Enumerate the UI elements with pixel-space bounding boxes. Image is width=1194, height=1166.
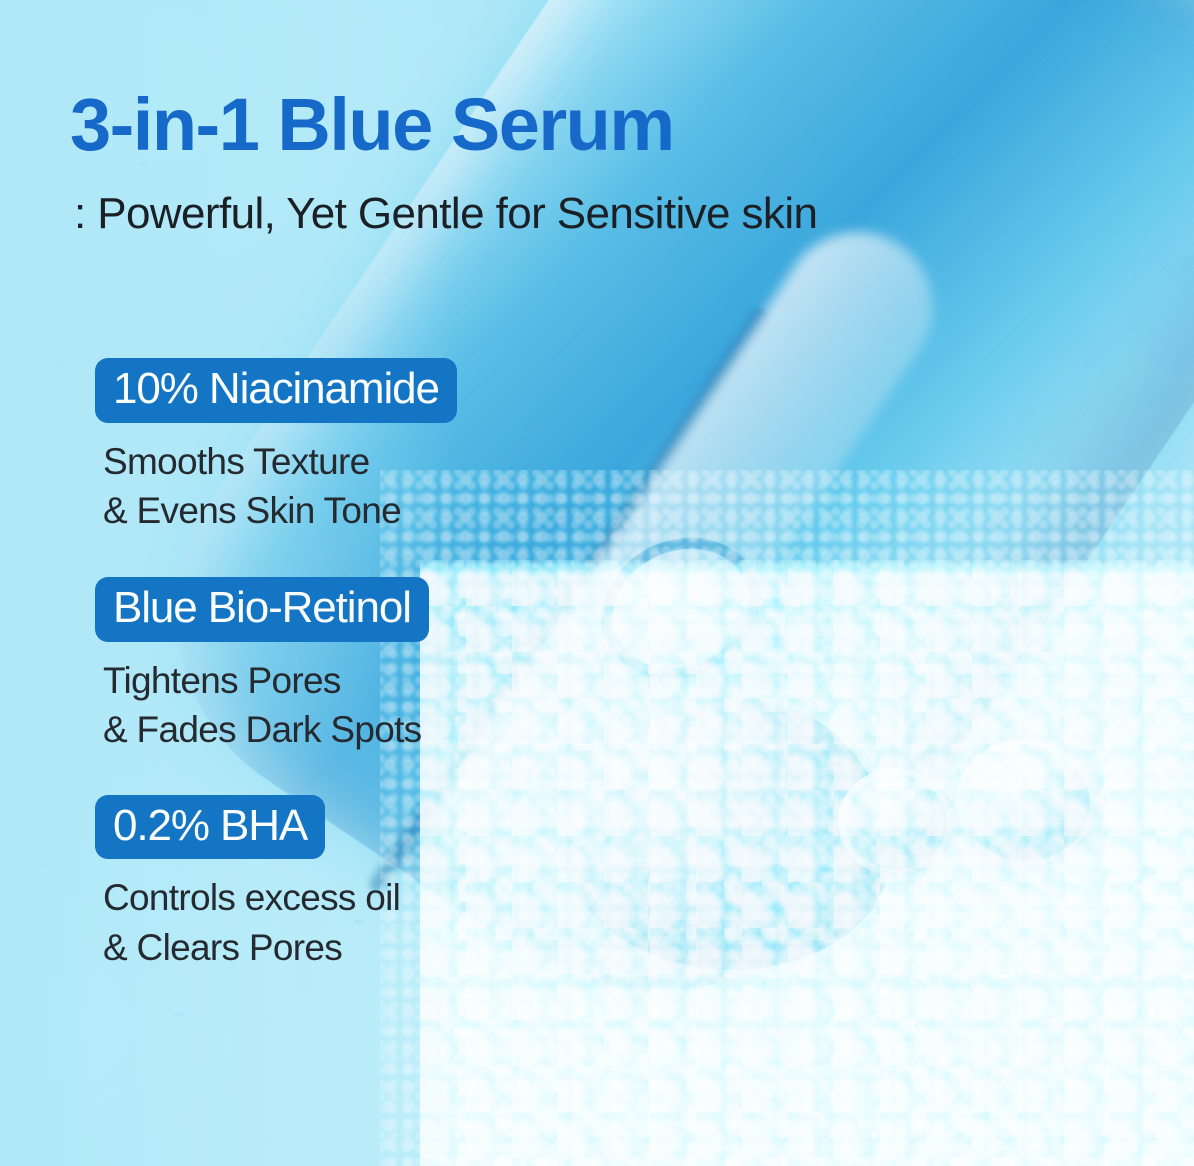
ingredient-badge-bha: 0.2% BHA — [95, 795, 325, 860]
ingredient-description-niacinamide: Smooths Texture & Evens Skin Tone — [103, 437, 565, 535]
ingredient-feature-list: 10% Niacinamide Smooths Texture & Evens … — [95, 358, 565, 972]
ingredient-badge-niacinamide: 10% Niacinamide — [95, 358, 457, 423]
product-ingredient-poster: 3-in-1 Blue Serum : Powerful, Yet Gentle… — [0, 0, 1194, 1166]
poster-content: 3-in-1 Blue Serum : Powerful, Yet Gentle… — [0, 0, 1194, 1166]
ingredient-badge-blue-bio-retinol: Blue Bio-Retinol — [95, 577, 429, 642]
ingredient-feature-blue-bio-retinol: Blue Bio-Retinol Tightens Pores & Fades … — [95, 577, 565, 754]
ingredient-feature-niacinamide: 10% Niacinamide Smooths Texture & Evens … — [95, 358, 565, 535]
ingredient-description-blue-bio-retinol: Tightens Pores & Fades Dark Spots — [103, 656, 565, 754]
ingredient-description-bha: Controls excess oil & Clears Pores — [103, 873, 565, 971]
ingredient-feature-bha: 0.2% BHA Controls excess oil & Clears Po… — [95, 795, 565, 972]
product-headline: 3-in-1 Blue Serum — [70, 88, 674, 162]
product-subheadline: : Powerful, Yet Gentle for Sensitive ski… — [74, 190, 817, 238]
